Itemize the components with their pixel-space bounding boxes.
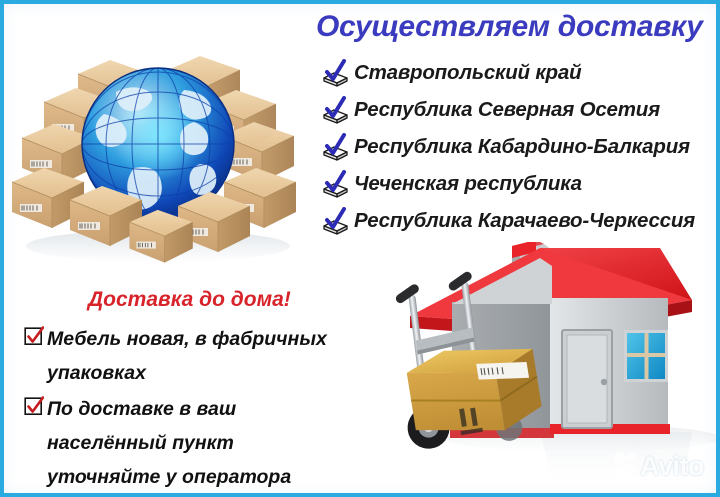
list-item: Республика Северная Осетия [320, 91, 720, 128]
list-item-label-continued: уточняйте у оператора [24, 460, 354, 494]
list-item-label-continued: населённый пункт [24, 426, 354, 460]
checkmark-tray-icon [320, 170, 350, 198]
list-item-label: Республика Северная Осетия [354, 98, 660, 122]
checkmark-tray-icon [320, 96, 350, 124]
list-item-label: Ставропольский край [354, 61, 581, 85]
checkmark-tray-icon [320, 207, 350, 235]
page-title: Осуществляем доставку [316, 10, 703, 44]
list-item-label: По доставке в ваш [47, 392, 236, 426]
list-item: По доставке в ваш населённый пункт уточн… [24, 392, 354, 494]
avito-watermark: Avito [612, 451, 704, 481]
delivery-subheading: Доставка до дома! [88, 288, 291, 312]
checkmark-tray-icon [320, 133, 350, 161]
list-item: Республика Кабардино-Балкария [320, 128, 720, 165]
list-item-label: Чеченская республика [354, 172, 582, 196]
list-item: Ставропольский край [320, 54, 720, 91]
delivery-conditions-list: Мебель новая, в фабричных упаковках По д… [24, 322, 354, 496]
red-check-checkbox-icon [24, 396, 44, 416]
list-item: Республика Карачаево-Черкессия [320, 202, 720, 239]
list-item-label: Республика Кабардино-Балкария [354, 135, 690, 159]
delivery-advertisement-banner: Осуществляем доставку Ставропольский кра… [0, 0, 720, 497]
list-item: Чеченская республика [320, 165, 720, 202]
globe-with-parcels-illustration [8, 18, 304, 270]
checkmark-tray-icon [320, 59, 350, 87]
red-check-checkbox-icon [24, 326, 44, 346]
list-item: Мебель новая, в фабричных упаковках [24, 322, 354, 390]
list-item-label: Мебель новая, в фабричных [47, 322, 327, 356]
list-item-label: Республика Карачаево-Черкессия [354, 209, 695, 233]
list-item-label-continued: упаковках [24, 356, 354, 390]
avito-circles-icon [612, 451, 637, 481]
avito-watermark-text: Avito [640, 453, 704, 480]
delivery-regions-list: Ставропольский край Республика Северная … [320, 54, 720, 239]
